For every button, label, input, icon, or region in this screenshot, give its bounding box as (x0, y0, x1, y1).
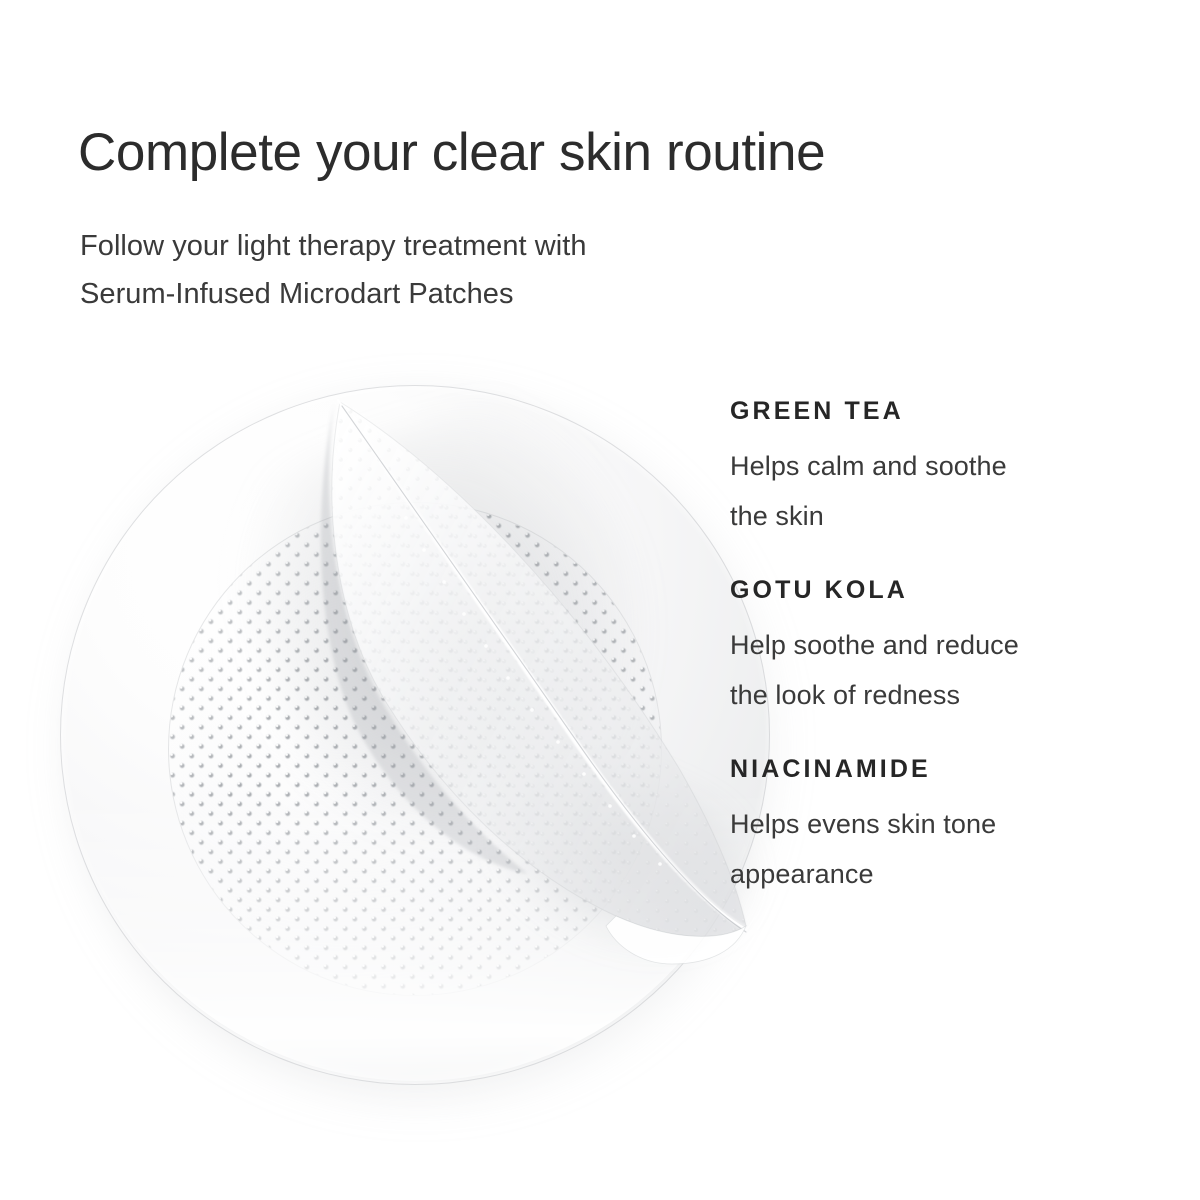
ingredient-desc-line-2: the skin (730, 491, 1130, 541)
subheading-line-2: Serum-Infused Microdart Patches (80, 270, 780, 318)
ingredient-description: Help soothe and reduce the look of redne… (730, 620, 1130, 720)
ingredient-name: GOTU KOLA (730, 575, 1130, 605)
page-headline: Complete your clear skin routine (78, 124, 1078, 181)
ingredient-name: GREEN TEA (730, 396, 1130, 426)
ingredient-item-gotu-kola: GOTU KOLA Help soothe and reduce the loo… (730, 575, 1130, 720)
ingredient-desc-line-1: Helps calm and soothe (730, 441, 1130, 491)
ingredient-item-niacinamide: NIACINAMIDE Helps evens skin tone appear… (730, 754, 1130, 899)
ingredient-desc-line-1: Helps evens skin tone (730, 799, 1130, 849)
ingredient-description: Helps evens skin tone appearance (730, 799, 1130, 899)
ingredient-desc-line-1: Help soothe and reduce (730, 620, 1130, 670)
subheading-line-1: Follow your light therapy treatment with (80, 222, 780, 270)
ingredient-name: NIACINAMIDE (730, 754, 1130, 784)
product-marketing-page: Complete your clear skin routine Follow … (0, 0, 1200, 1200)
product-image (20, 350, 820, 1140)
ingredient-desc-line-2: appearance (730, 849, 1130, 899)
page-subheading: Follow your light therapy treatment with… (80, 222, 780, 318)
ingredient-description: Helps calm and soothe the skin (730, 441, 1130, 541)
ingredient-list: GREEN TEA Helps calm and soothe the skin… (730, 396, 1130, 899)
ingredient-item-green-tea: GREEN TEA Helps calm and soothe the skin (730, 396, 1130, 541)
ingredient-desc-line-2: the look of redness (730, 670, 1130, 720)
